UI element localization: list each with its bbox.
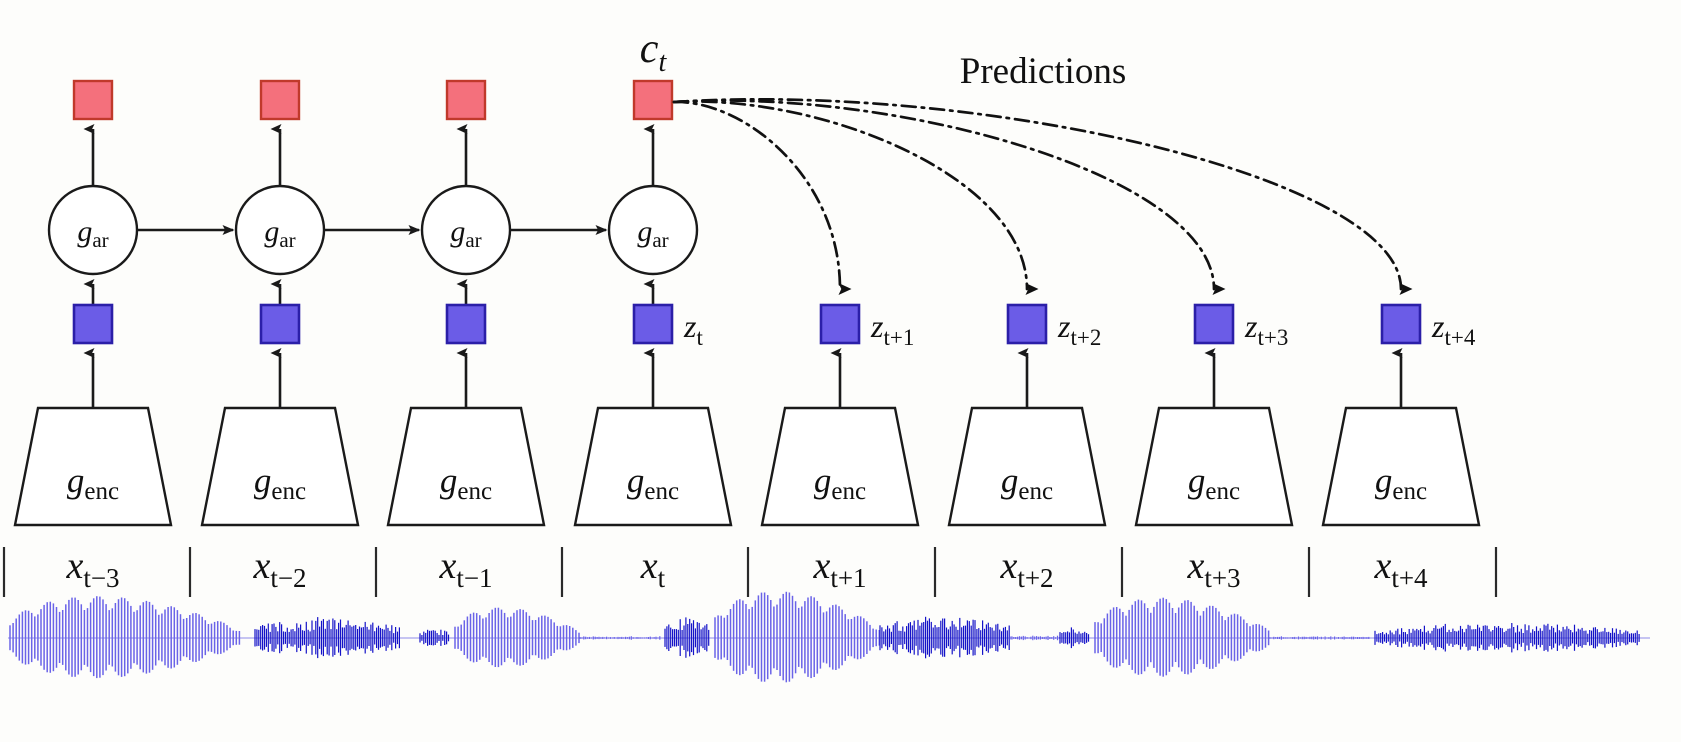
- prediction-arc: [674, 102, 840, 289]
- x-label-base: x: [640, 545, 658, 587]
- encoder-label-base: g: [1001, 461, 1019, 500]
- autoregressive-node: gar: [49, 186, 137, 274]
- encoder-trapezoid: [575, 408, 731, 525]
- encoder-label-base: g: [254, 461, 272, 500]
- x-timestep-label: xt: [640, 545, 666, 593]
- x-label-layer: xt−3xt−2xt−1xtxt+1xt+2xt+3xt+4: [65, 545, 1428, 593]
- encoder-block: genc: [575, 408, 731, 525]
- x-timestep-label: xt+1: [812, 545, 866, 593]
- encoder-block: genc: [1323, 408, 1479, 525]
- waveform-segment: [10, 596, 239, 678]
- encoder-block: genc: [949, 408, 1105, 525]
- encoder-trapezoid: [388, 408, 544, 525]
- encoder-label-base: g: [67, 461, 85, 500]
- context-square: [447, 81, 485, 119]
- latent-square: [1008, 305, 1046, 343]
- z-label-layer: ztzt+1zt+2zt+3zt+4: [683, 308, 1476, 350]
- latent-square: [1195, 305, 1233, 343]
- gar-label-base: g: [450, 215, 465, 248]
- timestep-tick-layer: [4, 547, 1496, 597]
- context-square: [634, 81, 672, 119]
- latent-square-layer: [74, 305, 1420, 343]
- latent-square: [634, 305, 672, 343]
- encoder-label-base: g: [627, 461, 645, 500]
- x-label-subscript: t+4: [1391, 563, 1428, 593]
- waveform-segment: [1095, 598, 1269, 677]
- autoregressive-node: gar: [609, 186, 697, 274]
- x-label-base: x: [1186, 545, 1204, 587]
- encoder-label-subscript: enc: [457, 478, 492, 505]
- gar-label-subscript: ar: [92, 228, 108, 252]
- gar-label-subscript: ar: [279, 228, 295, 252]
- figure-canvas: gencgencgencgencgencgencgencgenc gargarg…: [0, 0, 1681, 742]
- encoder-block: genc: [762, 408, 918, 525]
- latent-square: [1382, 305, 1420, 343]
- encoder-block: genc: [15, 408, 171, 525]
- waveform-segment: [455, 608, 579, 667]
- z-label-subscript: t+2: [1070, 325, 1101, 350]
- z-latent-label: zt+1: [870, 308, 914, 350]
- x-timestep-label: xt+3: [1186, 545, 1240, 593]
- x-label-base: x: [438, 545, 456, 587]
- x-label-base: x: [252, 545, 270, 587]
- x-label-subscript: t+2: [1017, 563, 1053, 593]
- z-latent-label: zt: [683, 308, 703, 350]
- encoder-label-subscript: enc: [1018, 478, 1053, 505]
- gar-label-base: g: [264, 215, 279, 248]
- encoder-label-base: g: [1188, 461, 1206, 500]
- z-latent-label: zt+3: [1244, 308, 1288, 350]
- context-square: [261, 81, 299, 119]
- encoder-trapezoid: [15, 408, 171, 525]
- x-timestep-label: xt−2: [252, 545, 306, 593]
- x-label-base: x: [999, 545, 1017, 587]
- x-timestep-label: xt−1: [438, 545, 492, 593]
- x-timestep-label: xt+4: [1373, 545, 1428, 593]
- x-label-base: x: [65, 545, 83, 587]
- waveform-segment: [715, 592, 879, 683]
- latent-square: [74, 305, 112, 343]
- x-label-subscript: t: [658, 563, 666, 593]
- z-label-subscript: t: [696, 325, 703, 350]
- predictions-label: Predictions: [960, 51, 1126, 92]
- encoder-label-subscript: enc: [1205, 478, 1240, 505]
- encoder-label-subscript: enc: [84, 478, 119, 505]
- latent-square: [261, 305, 299, 343]
- latent-square: [447, 305, 485, 343]
- encoder-layer: gencgencgencgencgencgencgencgenc: [15, 408, 1479, 525]
- gar-label-base: g: [77, 215, 92, 248]
- encoder-block: genc: [202, 408, 358, 525]
- gar-label-base: g: [637, 215, 652, 248]
- ct-subscript: t: [658, 47, 667, 78]
- x-label-subscript: t+3: [1204, 563, 1240, 593]
- encoder-trapezoid: [202, 408, 358, 525]
- x-timestep-label: xt−3: [65, 545, 119, 593]
- encoder-label-base: g: [814, 461, 832, 500]
- encoder-label-base: g: [440, 461, 458, 500]
- encoder-trapezoid: [949, 408, 1105, 525]
- z-label-base: z: [683, 308, 697, 344]
- x-label-subscript: t−1: [456, 563, 492, 593]
- prediction-arc: [674, 101, 1027, 289]
- waveform-layer: [8, 592, 1650, 683]
- x-label-subscript: t+1: [830, 563, 866, 593]
- autoregressive-node: gar: [422, 186, 510, 274]
- encoder-label-subscript: enc: [831, 478, 866, 505]
- waveform-segment: [1270, 636, 1369, 639]
- prediction-arc: [674, 99, 1401, 289]
- gar-label-subscript: ar: [465, 228, 481, 252]
- encoder-block: genc: [1136, 408, 1292, 525]
- x-label-subscript: t−2: [270, 563, 306, 593]
- z-label-base: z: [870, 308, 884, 344]
- x-label-base: x: [1373, 545, 1391, 587]
- waveform-segment: [580, 636, 660, 640]
- z-label-base: z: [1244, 308, 1258, 344]
- ct-base: c: [640, 26, 659, 72]
- prediction-arc-layer: [674, 99, 1401, 289]
- latent-square: [821, 305, 859, 343]
- z-label-subscript: t+3: [1257, 325, 1288, 350]
- encoder-trapezoid: [762, 408, 918, 525]
- encoder-trapezoid: [1136, 408, 1292, 525]
- x-timestep-label: xt+2: [999, 545, 1053, 593]
- gar-label-subscript: ar: [652, 228, 668, 252]
- z-latent-label: zt+2: [1057, 308, 1101, 350]
- z-label-base: z: [1057, 308, 1071, 344]
- encoder-label-subscript: enc: [271, 478, 306, 505]
- encoder-label-subscript: enc: [644, 478, 679, 505]
- waveform-segment: [880, 617, 1009, 659]
- z-label-subscript: t+4: [1444, 325, 1475, 350]
- encoder-label-base: g: [1375, 461, 1393, 500]
- waveform-segment: [1010, 636, 1059, 641]
- encoder-trapezoid: [1323, 408, 1479, 525]
- x-label-base: x: [812, 545, 830, 587]
- z-label-subscript: t+1: [883, 325, 914, 350]
- z-latent-label: zt+4: [1431, 308, 1476, 350]
- z-label-base: z: [1431, 308, 1445, 344]
- encoder-label-subscript: enc: [1392, 478, 1427, 505]
- context-square-layer: [74, 81, 672, 119]
- x-label-subscript: t−3: [83, 563, 119, 593]
- context-square: [74, 81, 112, 119]
- context-variable-label: ct: [640, 26, 668, 78]
- cpc-architecture-diagram: gencgencgencgencgencgencgencgenc gargarg…: [0, 0, 1681, 742]
- autoregressive-node: gar: [236, 186, 324, 274]
- encoder-block: genc: [388, 408, 544, 525]
